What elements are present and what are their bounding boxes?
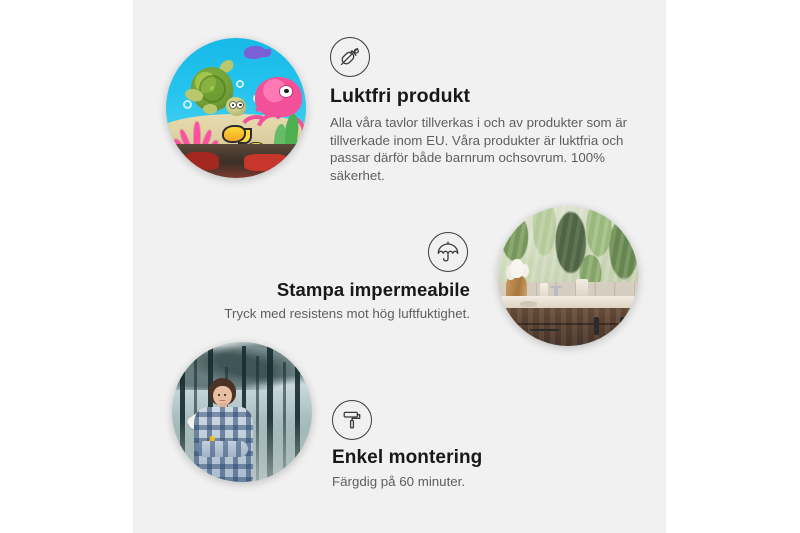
feature-description: Tryck med resistens mot hög luftfuktighe…: [190, 305, 470, 322]
product-image-underwater-cartoon-scene[interactable]: [166, 38, 306, 178]
countertop: [498, 296, 638, 309]
vanity-cabinet: [498, 308, 638, 346]
feature-title: Luktfri produkt: [330, 85, 630, 108]
underwater-scene-art: [166, 38, 306, 178]
paint-roller-icon: [332, 400, 612, 440]
product-image-bathroom-vanity-leaf-wallpaper[interactable]: [498, 206, 638, 346]
soap-dish: [520, 301, 537, 307]
fish-illustration: [244, 46, 265, 59]
fish-illustration: [222, 125, 246, 143]
umbrella-icon: [190, 232, 470, 272]
sea-bottom-rocks: [166, 144, 306, 178]
woman-illustration: [189, 378, 267, 482]
forest-scene-art: [172, 342, 312, 482]
feature-waterproof-print: Stampa impermeabile Tryck med resistens …: [190, 232, 470, 322]
feature-easy-mounting: Enkel montering Färgdig på 60 minuter.: [332, 400, 612, 490]
feature-odour-free: Luktfri produkt Alla våra tavlor tillver…: [330, 37, 630, 184]
bathroom-scene-art: [498, 206, 638, 346]
turtle-illustration: [188, 63, 247, 119]
no-perfume-spray-icon: [330, 37, 630, 77]
promo-banner: Luktfri produkt Alla våra tavlor tillver…: [0, 0, 800, 533]
product-image-woman-paint-roller-forest-wallpaper[interactable]: [172, 342, 312, 482]
feature-description: Färgdig på 60 minuter.: [332, 473, 612, 490]
feature-description: Alla våra tavlor tillverkas i och av pro…: [330, 114, 630, 184]
feature-title: Stampa impermeabile: [190, 279, 470, 301]
feature-title: Enkel montering: [332, 447, 612, 469]
